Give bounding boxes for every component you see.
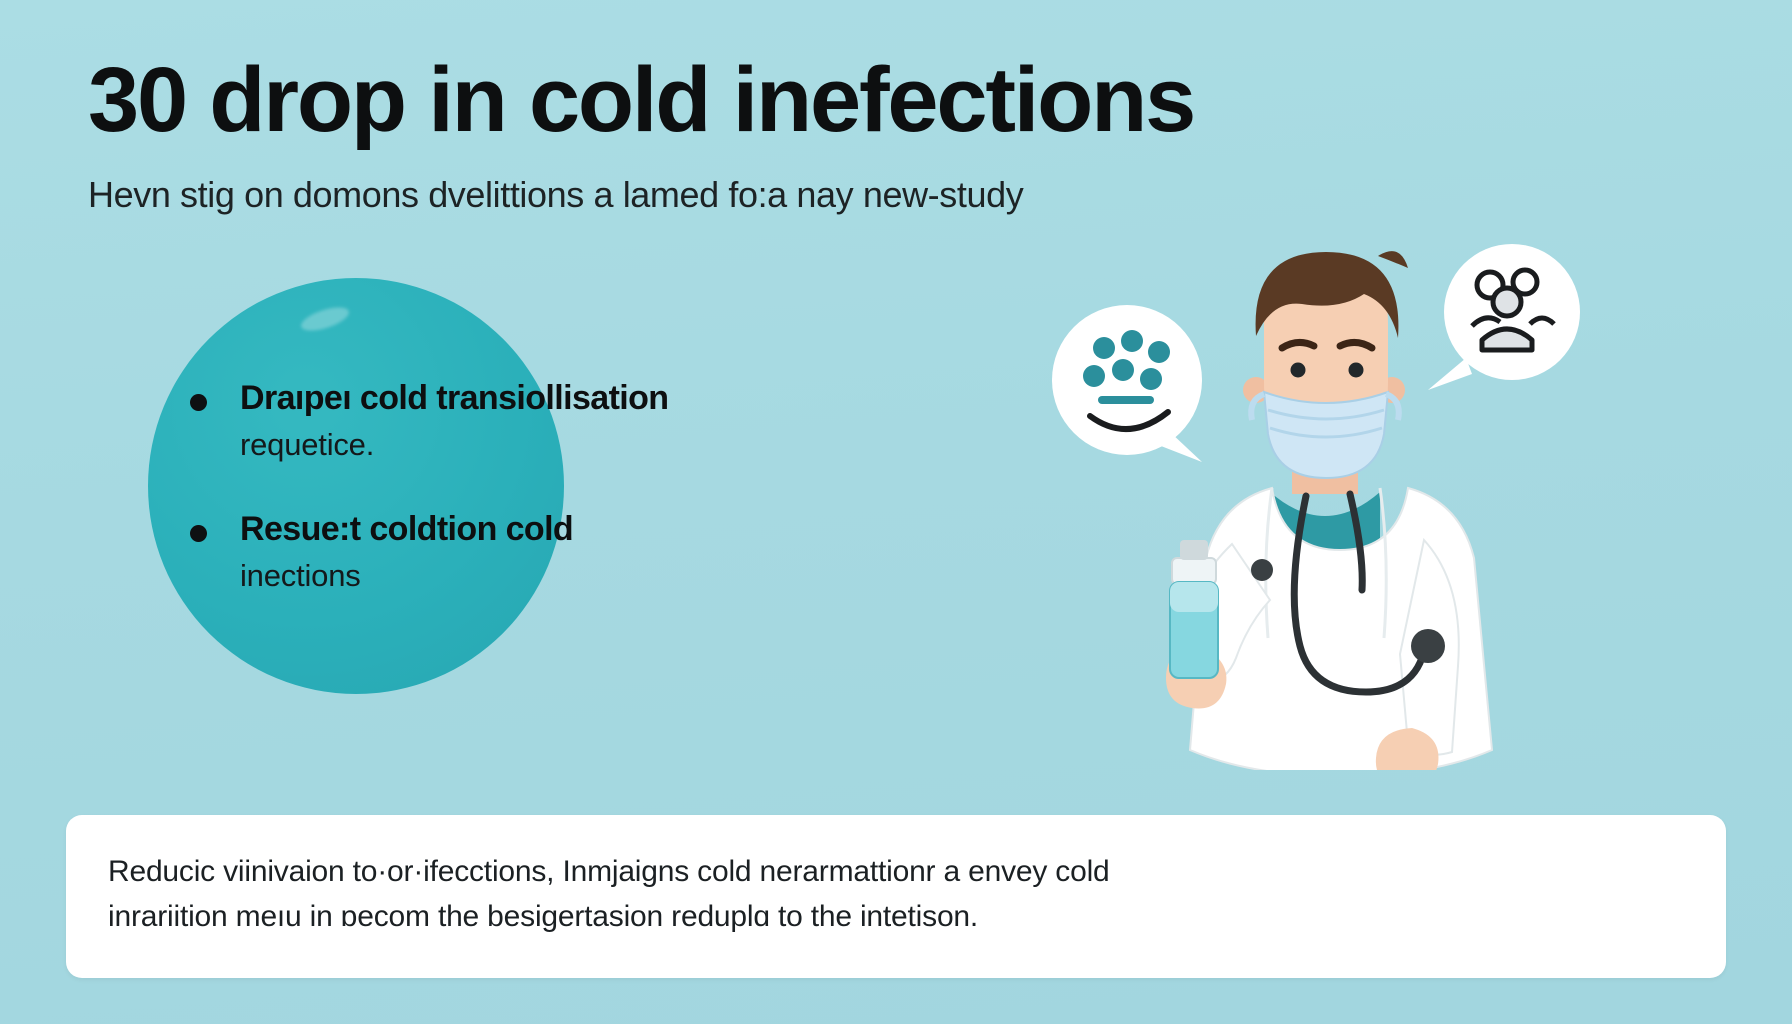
caption-line-2: inrariition meıu in ɒecom the besigertas…: [108, 894, 1684, 940]
list-item-title: Resue:t coldtion cold: [240, 509, 826, 549]
page-subtitle: Hevn stig on domons dvelittions a lamed …: [88, 174, 1738, 215]
list-item-subtitle: requetice.: [240, 426, 826, 463]
vaccine-vial-icon: [1170, 540, 1218, 678]
speech-bubble-people: [1428, 244, 1580, 390]
doctor-illustration: [1020, 240, 1660, 770]
surgical-mask: [1251, 392, 1399, 478]
speech-bubble-germ: [1052, 305, 1202, 462]
list-item-title: Draıpeı cold transiollisation: [240, 378, 826, 418]
eye-left: [1291, 363, 1306, 378]
caption-line-1: Reducic viinivaion to·or·ifecctions, Inm…: [108, 849, 1684, 895]
header: 30 drop in cold inefections Hevn stig on…: [88, 54, 1738, 215]
eye-right: [1349, 363, 1364, 378]
list-item: Resue:t coldtion cold inections: [186, 509, 826, 594]
caption-card: Reducic viinivaion to·or·ifecctions, Inm…: [66, 815, 1726, 978]
bullet-list: Draıpeı cold transiollisation requetice.…: [186, 378, 826, 595]
list-item: Draıpeı cold transiollisation requetice.: [186, 378, 826, 463]
stethoscope-chestpiece: [1411, 629, 1445, 663]
bullet-dot-icon: [190, 525, 207, 542]
infographic-poster: 30 drop in cold inefections Hevn stig on…: [0, 0, 1792, 1024]
list-item-subtitle: inections: [240, 557, 826, 594]
page-title: 30 drop in cold inefections: [88, 54, 1738, 148]
bullet-dot-icon: [190, 394, 207, 411]
doctor-illustration-svg: [1020, 240, 1660, 770]
